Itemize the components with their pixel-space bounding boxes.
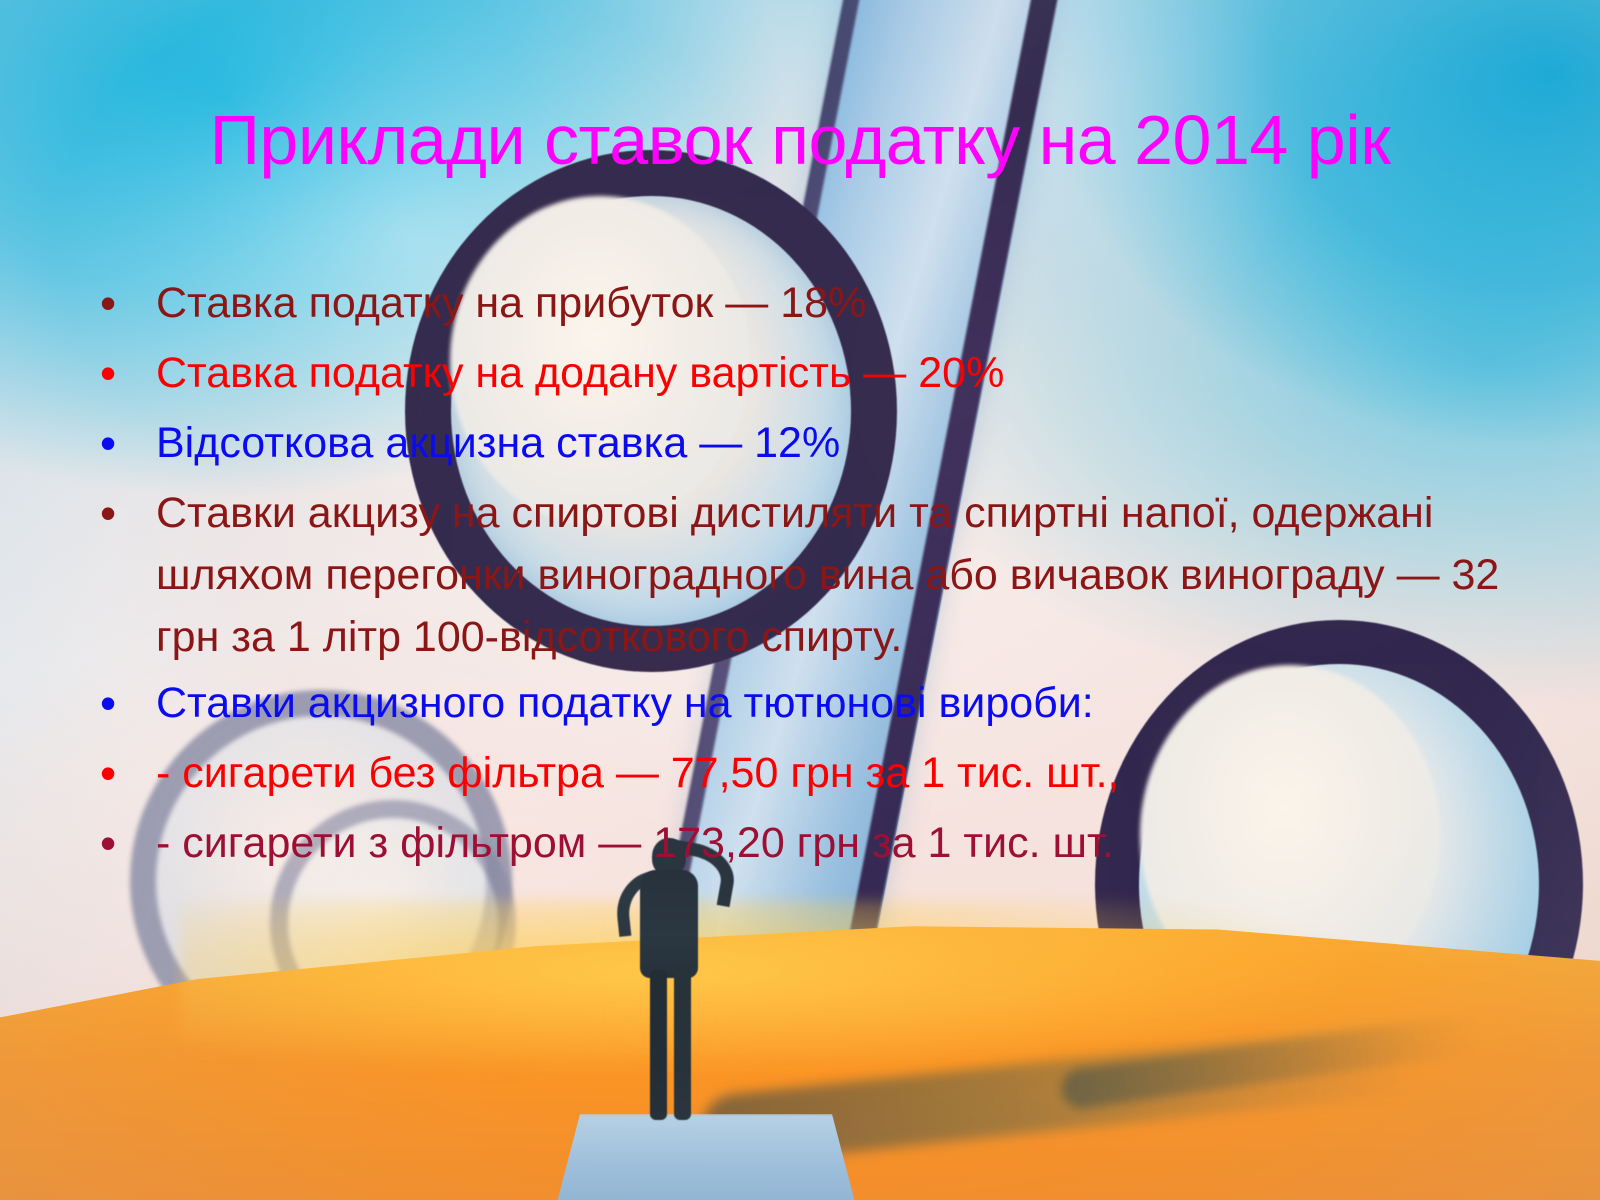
presentation-slide: Приклади ставок податку на 2014 рік • Ст…	[0, 0, 1600, 1200]
bullet-marker-icon: •	[92, 342, 156, 404]
bullet-marker-icon: •	[92, 742, 156, 804]
bullet-text: Ставки акцизного податку на тютюнові вир…	[156, 672, 1512, 734]
bullet-marker-icon: •	[92, 812, 156, 874]
bullet-text: Ставка податку на прибуток — 18%	[156, 272, 1512, 334]
person-left-leg	[650, 970, 667, 1120]
standing-person-silhouette	[600, 838, 740, 1138]
bullet-item: • - сигарети з фільтром — 173,20 грн за …	[92, 812, 1512, 874]
bullet-item: • - сигарети без фільтра — 77,50 грн за …	[92, 742, 1512, 804]
bullet-text: Відсоткова акцизна ставка — 12%	[156, 412, 1512, 474]
bullet-marker-icon: •	[92, 672, 156, 734]
slide-title: Приклади ставок податку на 2014 рік	[0, 104, 1600, 177]
bullet-text: Ставки акцизу на спиртові дистиляти та с…	[156, 482, 1512, 668]
bullet-marker-icon: •	[92, 272, 156, 334]
bullet-item: • Відсоткова акцизна ставка — 12%	[92, 412, 1512, 474]
slide-body: • Ставка податку на прибуток — 18% • Ста…	[92, 272, 1512, 882]
bullet-text: - сигарети без фільтра — 77,50 грн за 1 …	[156, 742, 1512, 804]
bullet-text: - сигарети з фільтром — 173,20 грн за 1 …	[156, 812, 1512, 874]
bullet-item: • Ставки акцизного податку на тютюнові в…	[92, 672, 1512, 734]
person-right-leg	[674, 970, 691, 1120]
bullet-item: • Ставки акцизу на спиртові дистиляти та…	[92, 482, 1512, 668]
bullet-item: • Ставка податку на додану вартість — 20…	[92, 342, 1512, 404]
bullet-text: Ставка податку на додану вартість — 20%	[156, 342, 1512, 404]
bullet-marker-icon: •	[92, 412, 156, 474]
bullet-item: • Ставка податку на прибуток — 18%	[92, 272, 1512, 334]
person-torso	[640, 870, 698, 978]
bullet-marker-icon: •	[92, 482, 156, 544]
